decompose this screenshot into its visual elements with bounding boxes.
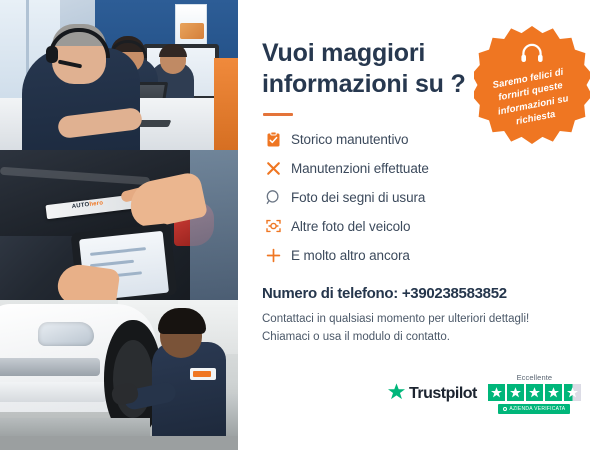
uniform-logo-decor [190, 368, 216, 380]
list-item: Foto dei segni di usura [262, 187, 578, 207]
star-icon [507, 384, 524, 401]
clipboard-check-icon [262, 129, 284, 149]
tools-cross-icon [262, 158, 284, 178]
list-item: E molto altro ancora [262, 245, 578, 265]
feature-label: Foto dei segni di usura [291, 190, 425, 205]
bumper-decor [0, 382, 108, 402]
headset-icon [520, 43, 544, 70]
list-item: Manutenzioni effettuate [262, 158, 578, 178]
background-blur-decor [190, 150, 238, 300]
star-icon-half [564, 384, 581, 401]
star-icon [488, 384, 505, 401]
star-rating [488, 384, 581, 401]
feature-label: E molto altro ancora [291, 248, 410, 263]
feature-label: Storico manutentivo [291, 132, 408, 147]
plus-icon [262, 245, 284, 265]
workshop-photo [0, 300, 238, 450]
check-dot-icon [503, 407, 507, 411]
contact-line-1: Contattaci in qualsiasi momento per ulte… [262, 311, 578, 329]
star-icon [526, 384, 543, 401]
photo-strip: AUTOhero [0, 0, 238, 450]
contact-line-2: Chiamaci o usa il modulo di contatto. [262, 329, 578, 347]
list-item: Altre foto del veicolo [262, 216, 578, 236]
phone-number[interactable]: Numero di telefono: +390238583852 [262, 285, 578, 302]
magnifier-icon [262, 187, 284, 207]
call-center-photo [0, 0, 238, 150]
feature-list: Storico manutentivo Manutenzioni effettu… [262, 129, 578, 265]
content-panel: Vuoi maggiori informazioni su ? Storico … [238, 0, 600, 450]
title-divider [263, 113, 293, 116]
star-icon [545, 384, 562, 401]
verified-label: AZIENDA VERIFICATA [509, 406, 565, 412]
scan-frame-icon [262, 216, 284, 236]
grille-decor [0, 358, 100, 376]
feature-label: Manutenzioni effettuate [291, 161, 429, 176]
trustpilot-name: Trustpilot [409, 385, 477, 403]
promo-banner: AUTOhero [0, 0, 600, 450]
feature-label: Altre foto del veicolo [291, 219, 410, 234]
rating-label: Eccellente [517, 373, 553, 382]
floor-decor [0, 436, 238, 450]
poster-decor [175, 4, 207, 46]
info-badge: Saremo felici di fornirti queste informa… [474, 26, 590, 144]
orange-panel-decor [214, 58, 238, 150]
trustpilot-rating: Eccellente [488, 373, 581, 414]
earcup-decor [46, 46, 58, 63]
verified-badge: AZIENDA VERIFICATA [498, 404, 570, 414]
trustpilot-widget[interactable]: Trustpilot Eccellente [388, 373, 581, 414]
page-title: Vuoi maggiori informazioni su ? [262, 38, 477, 99]
headlight-decor [38, 322, 94, 346]
inspection-photo: AUTOhero [0, 150, 238, 300]
contact-text: Contattaci in qualsiasi momento per ulte… [262, 311, 578, 347]
trustpilot-star-icon [388, 383, 405, 405]
trustpilot-logo: Trustpilot [388, 383, 477, 405]
